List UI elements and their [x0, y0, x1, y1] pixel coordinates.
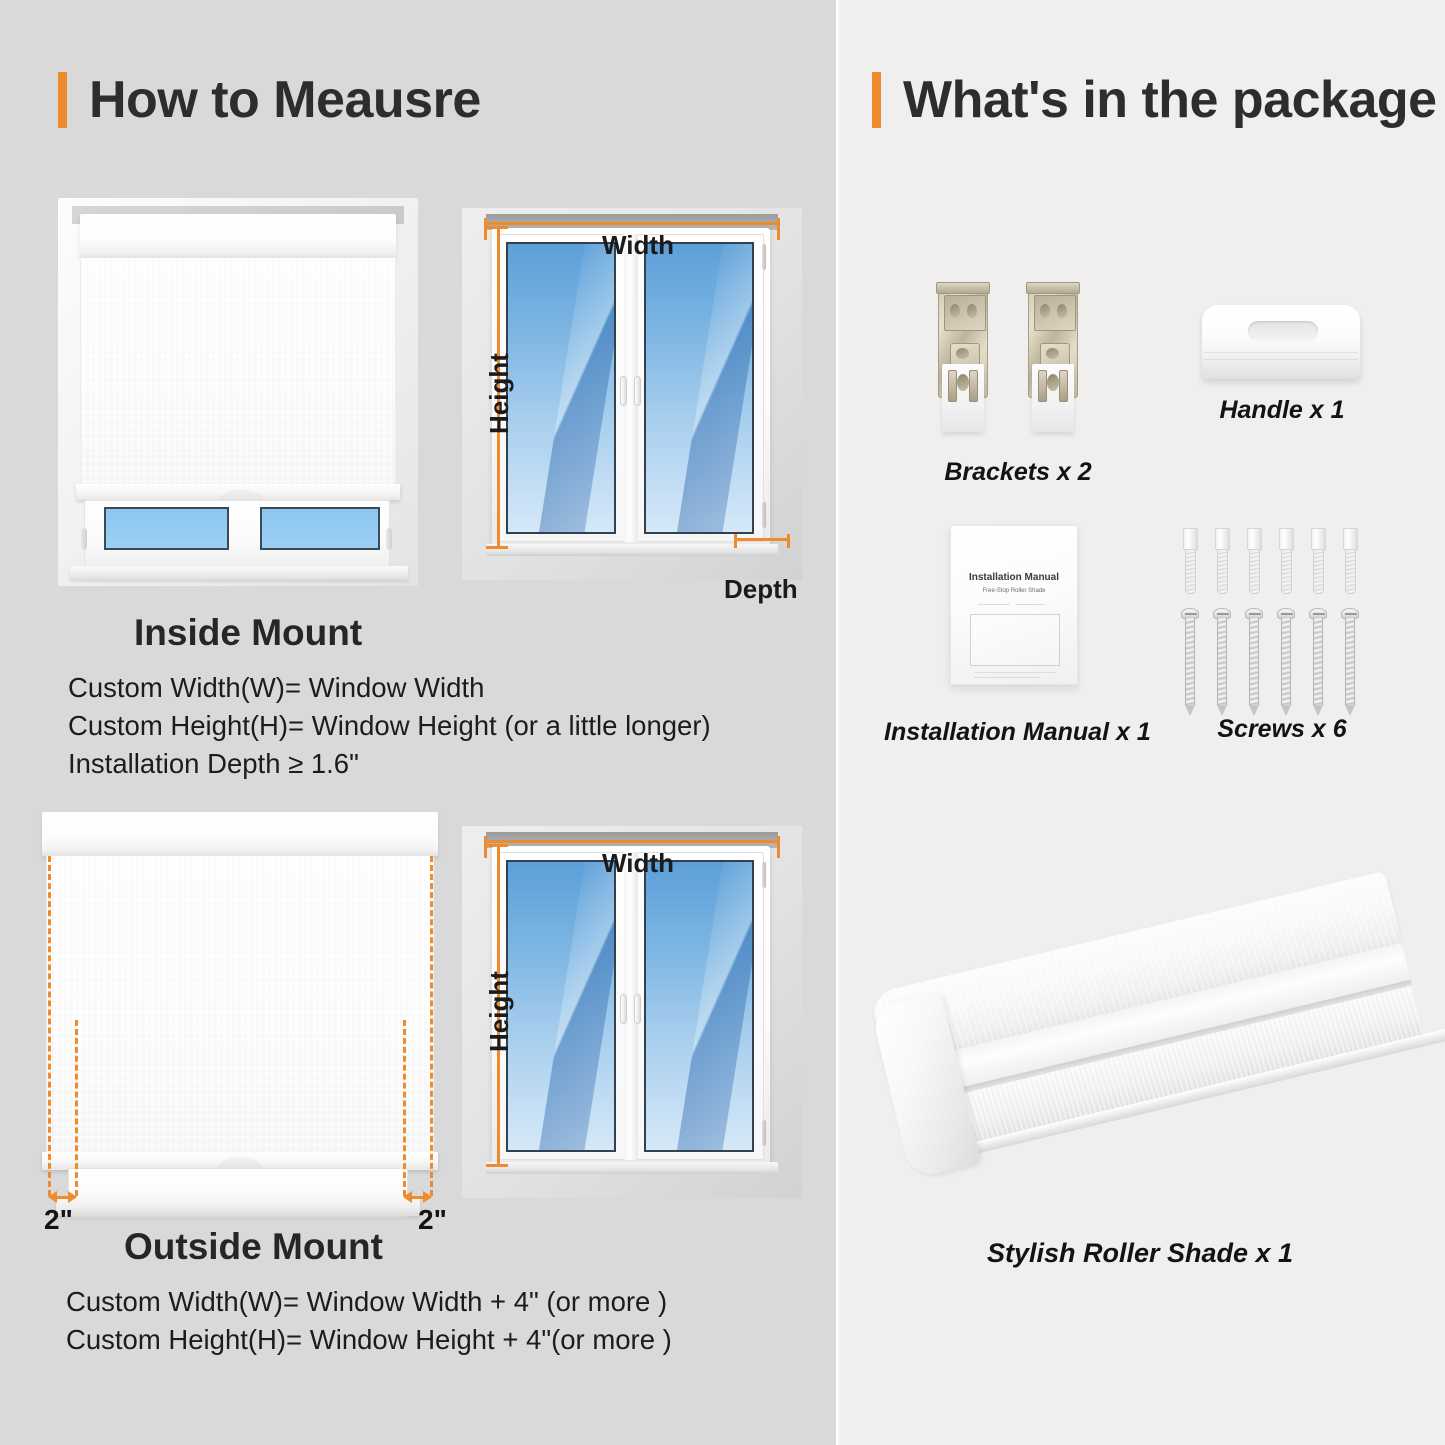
right-overhang-guide: [430, 856, 433, 1196]
accent-bar-icon: [58, 72, 67, 128]
outside-mount-title: Outside Mount: [124, 1226, 383, 1268]
depth-label: Depth: [724, 574, 798, 605]
panel-divider: [836, 0, 840, 1445]
page-title: How to Meausre: [89, 74, 481, 126]
screws-label: Screws x 6: [1182, 715, 1382, 744]
installation-manual-label: Installation Manual x 1: [884, 718, 1144, 747]
overhang-left-label: 2": [44, 1204, 73, 1236]
inside-mount-line-2: Custom Height(H)= Window Height (or a li…: [68, 708, 711, 744]
how-to-measure-heading: How to Meausre: [58, 72, 481, 128]
width-label: Width: [602, 230, 674, 261]
inside-mount-line-1: Custom Width(W)= Window Width: [68, 670, 711, 706]
how-to-measure-panel: How to Meausre: [0, 0, 836, 1445]
handle-label: Handle x 1: [1182, 396, 1382, 425]
overhang-right-label: 2": [418, 1204, 447, 1236]
accent-bar-icon: [872, 72, 881, 128]
outside-mount-line-2: Custom Height(H)= Window Height + 4"(or …: [66, 1322, 672, 1358]
height-label: Height: [484, 353, 515, 434]
inside-mount-line-3: Installation Depth ≥ 1.6": [68, 746, 711, 782]
width-dimension-line: [484, 840, 780, 843]
inside-mount-window-diagram: Width Height Depth: [462, 208, 802, 580]
width-label: Width: [602, 848, 674, 879]
inside-mount-title: Inside Mount: [134, 612, 362, 654]
brackets-label: Brackets x 2: [908, 458, 1128, 487]
manual-cover-title: Installation Manual: [950, 572, 1078, 583]
roller-shade-label: Stylish Roller Shade x 1: [940, 1238, 1340, 1269]
outside-mount-instructions: Custom Width(W)= Window Width + 4" (or m…: [66, 1284, 672, 1360]
outside-mount-line-1: Custom Width(W)= Window Width + 4" (or m…: [66, 1284, 672, 1320]
package-contents-panel: What's in the package: [836, 0, 1445, 1445]
manual-cover-subtitle: Free-Stop Roller Shade: [950, 588, 1078, 594]
inside-mount-instructions: Custom Width(W)= Window Width Custom Hei…: [68, 670, 711, 783]
package-title: What's in the package: [903, 74, 1437, 126]
width-dimension-line: [484, 222, 780, 225]
left-overhang-guide: [48, 856, 51, 1196]
height-label: Height: [484, 971, 515, 1052]
infographic-page: How to Meausre: [0, 0, 1445, 1445]
depth-dimension-line: [734, 538, 790, 541]
package-heading: What's in the package: [872, 72, 1437, 128]
outside-mount-window-diagram: Width Height: [462, 826, 802, 1198]
